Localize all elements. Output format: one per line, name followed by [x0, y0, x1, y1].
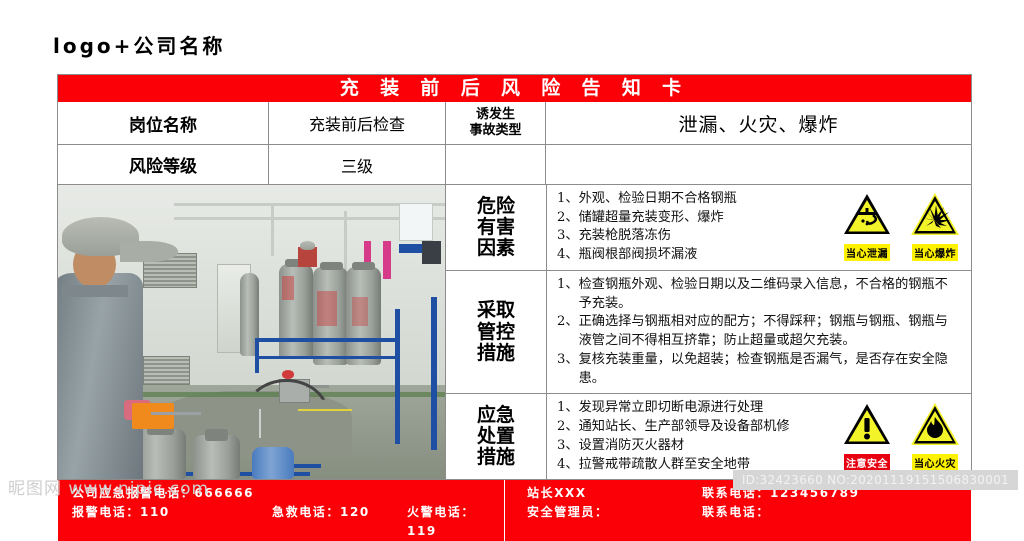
section-1-items: 1、检查钢瓶外观、检验日期以及二维码录入信息，不合格的钢瓶不予充装。 2、正确选…: [547, 271, 971, 393]
item-number: 2、: [557, 313, 579, 350]
warning-fire-caption: 当心火灾: [912, 454, 958, 471]
safety-manager: 安全管理员：: [527, 503, 702, 522]
section-control-measures: 采取 管控 措施 1、检查钢瓶外观、检验日期以及二维码录入信息，不合格的钢瓶不予…: [446, 270, 971, 393]
section-2-icons: 注意安全 当心火灾: [831, 402, 971, 472]
warning-explosion-triangle: [910, 192, 960, 236]
section-0-label: 危险 有害 因素: [446, 185, 546, 270]
accident-type-label: 诱发生 事故类型: [445, 102, 545, 144]
list-item: 2、正确选择与钢瓶相对应的配方；不得踩秤；钢瓶与钢瓶、钢瓶与液管之间不得相互挤靠…: [557, 313, 955, 350]
section-2-body: 1、发现异常立即切断电源进行处理 2、通知站长、生产部领导及设备部机修 3、设置…: [546, 394, 971, 479]
list-item: 4、瓶阀根部阀损坏漏液: [557, 246, 825, 265]
item-number: 1、: [557, 399, 579, 418]
card-title: 充 装 前 后 风 险 告 知 卡: [58, 75, 971, 102]
section-emergency-measures: 应急 处置 措施 1、发现异常立即切断电源进行处理 2、通知站长、生产部领导及设…: [446, 393, 971, 479]
accident-type-value: 泄漏、火灾、爆炸: [545, 102, 971, 144]
section-0-label-spacer: [445, 145, 545, 184]
section-2-label: 应急 处置 措施: [446, 394, 546, 479]
section-1-label-line1: 采取: [477, 300, 515, 321]
station-chief: 站长XXX: [527, 484, 702, 503]
list-item: 3、复核充装重量，以免超装；检查钢瓶是否漏气，是否存在安全隐患。: [557, 351, 955, 388]
list-item: 1、外观、检验日期不合格钢瓶: [557, 190, 825, 209]
section-0-label-line3: 因素: [477, 238, 515, 259]
position-name-value: 充装前后检查: [268, 102, 445, 144]
list-item: 1、发现异常立即切断电源进行处理: [557, 399, 825, 418]
item-number: 3、: [557, 437, 579, 456]
site-watermark: 昵图网 www.nipic.com: [8, 474, 209, 499]
section-0-body-spacer: [545, 145, 971, 184]
police-phone: 报警电话：110: [72, 503, 272, 541]
warning-fire-triangle: [910, 402, 960, 446]
section-2-label-line1: 应急: [477, 405, 515, 426]
list-item: 3、充装枪脱落冻伤: [557, 227, 825, 246]
section-1-label: 采取 管控 措施: [446, 271, 546, 393]
sections-stack: 危险 有害 因素 1、外观、检验日期不合格钢瓶 2、储罐超量充装变形、爆炸 3、…: [445, 185, 971, 479]
warning-explosion-caption: 当心爆炸: [912, 244, 958, 261]
footer-left-line2: 报警电话：110 急救电话：120 火警电话：119: [72, 503, 504, 541]
item-number: 4、: [557, 246, 579, 265]
item-number: 3、: [557, 351, 579, 388]
section-1-label-line3: 措施: [477, 343, 515, 364]
image-id-tag: ID:32423660 NO:20201119151506830001: [733, 470, 1018, 490]
risk-notification-card: 充 装 前 后 风 险 告 知 卡 岗位名称 充装前后检查 诱发生 事故类型 泄…: [57, 74, 972, 480]
item-text: 复核充装重量，以免超装；检查钢瓶是否漏气，是否存在安全隐患。: [579, 351, 955, 388]
section-2-label-line3: 措施: [477, 447, 515, 468]
item-text: 设置消防灭火器材: [579, 437, 825, 456]
photo-illustration: [58, 185, 445, 479]
table-row-sections: 危险 有害 因素 1、外观、检验日期不合格钢瓶 2、储罐超量充装变形、爆炸 3、…: [58, 184, 971, 479]
safety-manager-phone: 联系电话：: [702, 503, 971, 522]
item-text: 瓶阀根部阀损坏漏液: [579, 246, 825, 265]
item-text: 储罐超量充装变形、爆炸: [579, 209, 825, 228]
item-text: 充装枪脱落冻伤: [579, 227, 825, 246]
attention-safety-icon: 注意安全: [837, 402, 897, 472]
worksite-photo: [58, 185, 445, 479]
section-0-icons: 当心泄漏: [831, 192, 971, 262]
item-text: 正确选择与钢瓶相对应的配方；不得踩秤；钢瓶与钢瓶、钢瓶与液管之间不得相互挤靠；防…: [579, 313, 955, 350]
section-1-body: 1、检查钢瓶外观、检验日期以及二维码录入信息，不合格的钢瓶不予充装。 2、正确选…: [546, 271, 971, 393]
item-number: 2、: [557, 418, 579, 437]
attention-safety-caption: 注意安全: [844, 454, 890, 471]
table-row-position: 岗位名称 充装前后检查 诱发生 事故类型 泄漏、火灾、爆炸: [58, 102, 971, 144]
warning-fire-icon: 当心火灾: [905, 402, 965, 472]
company-logo-title: logo+公司名称: [53, 30, 225, 59]
section-0-body: 1、外观、检验日期不合格钢瓶 2、储罐超量充装变形、爆炸 3、充装枪脱落冻伤 4…: [546, 185, 971, 270]
fire-phone: 火警电话：119: [407, 503, 504, 541]
list-item: 2、通知站长、生产部领导及设备部机修: [557, 418, 825, 437]
section-2-items: 1、发现异常立即切断电源进行处理 2、通知站长、生产部领导及设备部机修 3、设置…: [547, 394, 831, 479]
item-text: 通知站长、生产部领导及设备部机修: [579, 418, 825, 437]
table-row-risk-level: 风险等级 三级: [58, 144, 971, 184]
risk-level-value: 三级: [268, 145, 445, 184]
warning-leak-triangle: [842, 192, 892, 236]
section-0-label-line1: 危险: [477, 196, 515, 217]
risk-level-label: 风险等级: [58, 145, 268, 184]
warning-leak-caption: 当心泄漏: [844, 244, 890, 261]
section-2-label-line2: 处置: [477, 426, 515, 447]
ambulance-phone: 急救电话：120: [272, 503, 407, 541]
list-item: 1、检查钢瓶外观、检验日期以及二维码录入信息，不合格的钢瓶不予充装。: [557, 276, 955, 313]
warning-leak-icon: 当心泄漏: [837, 192, 897, 262]
section-1-label-line2: 管控: [477, 322, 515, 343]
list-item: 3、设置消防灭火器材: [557, 437, 825, 456]
item-text: 外观、检验日期不合格钢瓶: [579, 190, 825, 209]
accident-type-label-line1: 诱发生: [469, 107, 521, 123]
section-hazard-factors: 危险 有害 因素 1、外观、检验日期不合格钢瓶 2、储罐超量充装变形、爆炸 3、…: [446, 185, 971, 270]
list-item: 2、储罐超量充装变形、爆炸: [557, 209, 825, 228]
item-number: 4、: [557, 456, 579, 475]
position-name-label: 岗位名称: [58, 102, 268, 144]
warning-explosion-icon: 当心爆炸: [905, 192, 965, 262]
item-text: 发现异常立即切断电源进行处理: [579, 399, 825, 418]
item-number: 1、: [557, 276, 579, 313]
item-number: 3、: [557, 227, 579, 246]
section-0-label-line2: 有害: [477, 217, 515, 238]
section-0-items: 1、外观、检验日期不合格钢瓶 2、储罐超量充装变形、爆炸 3、充装枪脱落冻伤 4…: [547, 185, 831, 270]
footer-right-line2: 安全管理员： 联系电话：: [527, 503, 971, 522]
card-grid: 岗位名称 充装前后检查 诱发生 事故类型 泄漏、火灾、爆炸 风险等级 三级: [58, 102, 971, 479]
item-text: 检查钢瓶外观、检验日期以及二维码录入信息，不合格的钢瓶不予充装。: [579, 276, 955, 313]
accident-type-label-line2: 事故类型: [469, 123, 521, 139]
item-number: 1、: [557, 190, 579, 209]
item-number: 2、: [557, 209, 579, 228]
attention-safety-triangle: [842, 402, 892, 446]
